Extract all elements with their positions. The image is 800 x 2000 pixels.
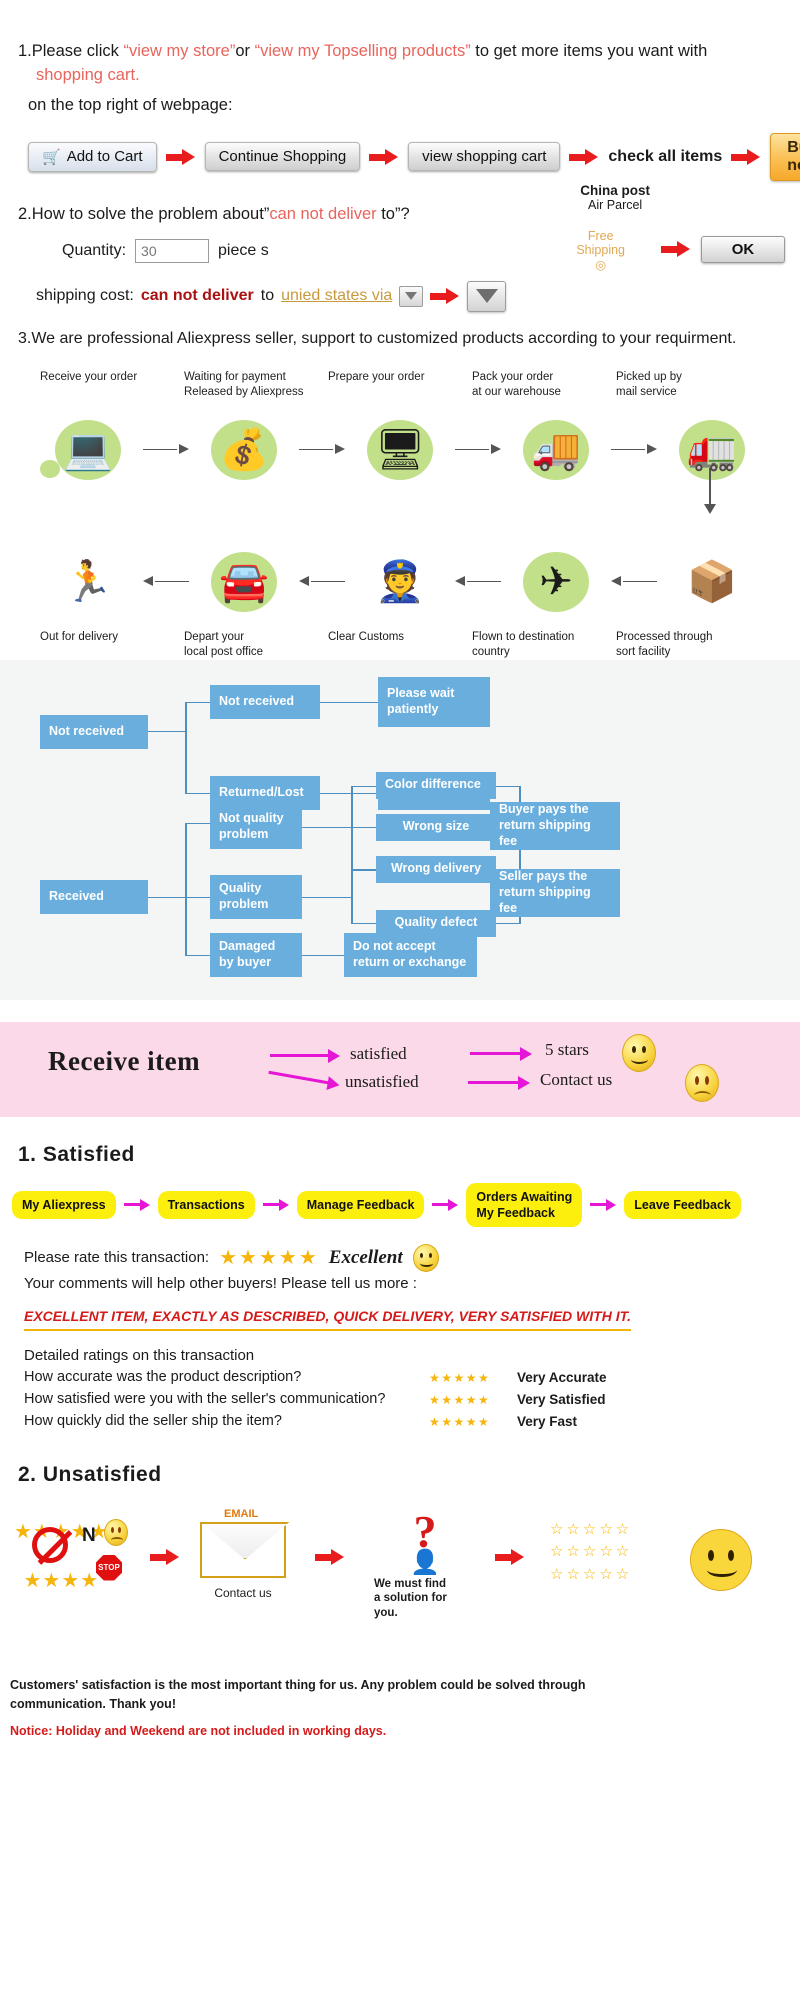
process-label-depart-post-office: Depart your local post office [184, 630, 328, 660]
satisfied-heading: 1. Satisfied [18, 1143, 800, 1167]
arrow-left-icon [299, 576, 345, 588]
arrow-right-icon [267, 1066, 340, 1092]
rate-transaction-row: Please rate this transaction: ★★★★★ Exce… [24, 1243, 800, 1273]
star-row: ☆☆☆☆☆ [550, 1519, 632, 1542]
shipping-cost-label: shipping cost: [36, 287, 134, 305]
happy-face-icon [413, 1244, 439, 1272]
process-label-picked-up: Picked up by mail service [616, 370, 760, 400]
chevron-down-icon [405, 292, 417, 300]
connector-line [351, 870, 353, 924]
airplane-icon: ✈ [539, 562, 573, 602]
prohibition-icon [32, 1527, 68, 1563]
star-rating-grid: ☆☆☆☆☆ ☆☆☆☆☆ ☆☆☆☆☆ [550, 1519, 632, 1587]
connector-line [351, 827, 376, 829]
buy-now-label: Buy now [787, 139, 800, 175]
process-label-out-for-delivery: Out for delivery [40, 630, 184, 660]
checkout-step-buttons: 🛒 Add to Cart Continue Shopping view sho… [28, 133, 782, 181]
section-one-text-a: Please click [32, 42, 124, 60]
flow-please-wait: Please wait patiently [378, 677, 490, 727]
arrow-left-icon [143, 576, 189, 588]
receive-item-banner: Receive item satisfied unsatisfied 5 sta… [0, 1022, 800, 1117]
connector-line [320, 702, 378, 704]
banner-unsatisfied-label: unsatisfied [345, 1072, 419, 1092]
star-row: ☆☆☆☆☆ [550, 1541, 632, 1564]
unsatisfied-heading: 2. Unsatisfied [18, 1463, 800, 1487]
step-orders-awaiting-feedback[interactable]: Orders Awaiting My Feedback [466, 1183, 582, 1228]
free-shipping-label: Free Shipping ◎ [576, 229, 625, 272]
free-shipping-radio-icon[interactable]: ◎ [576, 258, 625, 272]
shopping-cart-icon: 🛒 [42, 148, 61, 166]
process-label-prepare-order: Prepare your order [328, 370, 472, 400]
process-bottom-row: 🏃 🚘 👮 ✈ 📦 [0, 540, 800, 624]
step-my-aliexpress[interactable]: My Aliexpress [12, 1191, 116, 1219]
arrow-right-icon [569, 149, 599, 165]
section-three-text: We are professional Aliexpress seller, s… [31, 330, 736, 347]
footer-line-1: Customers' satisfaction is the most impo… [10, 1676, 800, 1695]
detail-rating-row: How quickly did the seller ship the item… [24, 1411, 800, 1433]
shipping-method-dropdown[interactable] [467, 281, 506, 312]
arrow-right-icon [661, 241, 691, 257]
destination-country-link[interactable]: unied states via [281, 287, 392, 305]
flow-not-quality-problem: Not quality problem [210, 805, 302, 849]
contact-us-caption: Contact us [200, 1586, 286, 1600]
flow-wrong-delivery: Wrong delivery [376, 856, 496, 883]
solution-group: ? 👤 We must find a solution for you. [370, 1505, 480, 1622]
process-top-labels: Receive your order Waiting for payment R… [0, 370, 800, 400]
happy-face-icon [622, 1034, 656, 1072]
ok-confirm-group: OK [661, 236, 785, 263]
detail-rating-row: How accurate was the product description… [24, 1367, 800, 1389]
detail-question: How quickly did the seller ship the item… [24, 1411, 419, 1433]
truck-icon: 🚛 [687, 430, 737, 470]
arrow-right-icon [315, 1549, 345, 1565]
connector-line [185, 823, 210, 825]
feedback-step-bar: My Aliexpress Transactions Manage Feedba… [12, 1183, 800, 1228]
rating-word: Excellent [329, 1244, 403, 1273]
detail-stars: ★★★★★ [429, 1413, 507, 1431]
detail-result: Very Accurate [517, 1368, 607, 1388]
flow-not-received-root: Not received [40, 715, 148, 749]
free-shipping-text: Free Shipping [576, 229, 625, 257]
step-leave-feedback[interactable]: Leave Feedback [624, 1191, 741, 1219]
section-three-number: 3. [18, 330, 31, 347]
customs-officer-icon: 👮 [375, 562, 425, 602]
add-to-cart-label: Add to Cart [67, 148, 143, 165]
section-two-text-a: How to solve the problem about” [32, 205, 270, 223]
banner-satisfied-label: satisfied [350, 1044, 407, 1064]
flow-buyer-pays: Buyer pays the return shipping fee [490, 802, 620, 850]
process-node-prepare-order: 🖥 [354, 408, 446, 492]
flow-no-return-exchange: Do not accept return or exchange [344, 933, 477, 977]
banner-contact-us-label: Contact us [540, 1070, 612, 1090]
parcels-sorting-icon: 📦 [687, 562, 737, 602]
detail-result: Very Satisfied [517, 1390, 606, 1410]
check-all-items-label: check all items [608, 148, 722, 166]
arrow-left-icon [455, 576, 501, 588]
process-node-flown-destination: ✈ [510, 540, 602, 624]
quantity-input[interactable] [135, 239, 209, 263]
arrow-left-icon [611, 576, 657, 588]
buy-now-button[interactable]: Buy now [770, 133, 800, 181]
arrow-right-icon [495, 1549, 525, 1565]
connector-line [185, 955, 210, 957]
shipping-process-diagram: Receive your order Waiting for payment R… [0, 370, 800, 660]
section-one-heading: 1.Please click “view my store”or “view m… [18, 40, 782, 88]
arrow-right-icon [731, 149, 761, 165]
arrow-right-icon [455, 444, 501, 456]
section-two-heading: 2.How to solve the problem about”can not… [18, 203, 782, 227]
buyer-comment-text: EXCELLENT ITEM, EXACTLY AS DESCRIBED, QU… [24, 1306, 631, 1331]
contact-us-group: EMAIL Contact us [200, 1522, 286, 1600]
shipping-cannot-deliver: can not deliver [141, 287, 254, 305]
rating-stars[interactable]: ★★★★★ [219, 1243, 319, 1273]
connector-line [302, 827, 352, 829]
detail-question: How satisfied were you with the seller's… [24, 1389, 419, 1411]
green-blob-decoration [40, 460, 60, 478]
section-two-number: 2. [18, 205, 32, 223]
arrow-right-icon [432, 1199, 458, 1211]
process-node-receive-order: 💻 [42, 408, 134, 492]
view-topselling-link[interactable]: “view my Topselling products” [255, 42, 471, 60]
footer-notice: Notice: Holiday and Weekend are not incl… [10, 1722, 800, 1741]
sad-face-icon [685, 1064, 719, 1102]
unsatisfied-diagram: ★★★★★ ★★★★ N STOP EMAIL Contact us ? 👤 W… [0, 1497, 800, 1672]
no-label: N [82, 1525, 96, 1547]
connector-line [496, 923, 520, 925]
flow-seller-pays: Seller pays the return shipping fee [490, 869, 620, 917]
air-parcel-label: Air Parcel [580, 198, 650, 212]
connector-line [351, 923, 376, 925]
connector-line [148, 731, 186, 733]
arrow-right-icon [143, 444, 189, 456]
view-my-store-link[interactable]: “view my store” [123, 42, 235, 60]
section-one-number: 1. [18, 42, 32, 60]
shopping-cart-text: shopping cart. [36, 64, 782, 88]
rating-block: Please rate this transaction: ★★★★★ Exce… [24, 1243, 800, 1432]
flow-quality-problem: Quality problem [210, 875, 302, 919]
add-to-cart-button[interactable]: 🛒 Add to Cart [28, 142, 157, 172]
money-bag-icon: 💰 [219, 430, 269, 470]
connector-line [302, 955, 344, 957]
flow-wrong-size: Wrong size [376, 814, 496, 841]
cannot-deliver-highlight: can not deliver [269, 205, 376, 223]
process-top-row: 💻 💰 🖥 🚚 🚛 [0, 408, 800, 492]
neutral-face-icon [690, 1529, 752, 1591]
china-post-block: China post Air Parcel [580, 183, 650, 212]
process-bottom-labels: Out for delivery Depart your local post … [0, 630, 800, 660]
arrow-down-icon [704, 468, 716, 514]
section-two: 2.How to solve the problem about”can not… [0, 181, 800, 312]
detail-question: How accurate was the product description… [24, 1367, 419, 1389]
connector-line [185, 702, 210, 704]
arrow-right-icon [590, 1199, 616, 1211]
stop-label: STOP [98, 1563, 120, 1572]
email-envelope-icon [200, 1522, 286, 1578]
footer-note: Customers' satisfaction is the most impo… [10, 1676, 800, 1742]
connector-line [185, 823, 187, 956]
quantity-label: Quantity: [62, 242, 126, 260]
process-label-sort-facility: Processed through sort facility [616, 630, 760, 660]
shipping-cost-row: shipping cost: can not deliver to unied … [36, 281, 782, 312]
sad-face-icon [104, 1519, 128, 1546]
flow-damaged-by-buyer: Damaged by buyer [210, 933, 302, 977]
person-icon: 👤 [370, 1548, 480, 1577]
view-shopping-cart-label: view shopping cart [422, 148, 546, 165]
ok-button[interactable]: OK [701, 236, 785, 263]
connector-line [185, 702, 187, 794]
email-label: EMAIL [224, 1508, 258, 1520]
star-row: ☆☆☆☆☆ [550, 1564, 632, 1587]
banner-title: Receive item [48, 1046, 200, 1077]
detailed-ratings-heading: Detailed ratings on this transaction [24, 1345, 800, 1368]
section-one: 1.Please click “view my store”or “view m… [0, 0, 800, 181]
connector-line [351, 870, 376, 872]
banner-five-stars-label: 5 stars [545, 1040, 589, 1060]
process-label-flown-destination: Flown to destination country [472, 630, 616, 660]
country-dropdown-button[interactable] [399, 286, 423, 307]
solution-caption: We must find a solution for you. [374, 1577, 480, 1622]
process-label-receive-order: Receive your order [40, 370, 184, 400]
continue-shopping-label: Continue Shopping [219, 148, 347, 165]
shipping-to-label: to [261, 287, 274, 305]
process-node-out-for-delivery: 🏃 [42, 540, 134, 624]
rate-transaction-label: Please rate this transaction: [24, 1247, 209, 1270]
connector-line [320, 793, 378, 795]
process-label-pack-order: Pack your order at our warehouse [472, 370, 616, 400]
arrow-right-icon [263, 1199, 289, 1211]
comments-prompt: Your comments will help other buyers! Pl… [24, 1273, 800, 1296]
arrow-right-icon [430, 288, 460, 304]
process-label-waiting-payment: Waiting for payment Released by Aliexpre… [184, 370, 328, 400]
connector-line [185, 897, 210, 899]
bad-stars-bottom: ★★★★ [14, 1568, 109, 1593]
arrow-right-icon [166, 149, 196, 165]
arrow-right-icon [124, 1199, 150, 1211]
step-manage-feedback[interactable]: Manage Feedback [297, 1191, 425, 1219]
connector-line [148, 897, 186, 899]
connector-line [302, 897, 352, 899]
china-post-label: China post [580, 183, 650, 198]
flow-not-received-child: Not received [210, 685, 320, 719]
connector-line [185, 793, 210, 795]
section-two-text-b: to”? [377, 205, 410, 223]
chevron-down-icon [476, 289, 498, 303]
top-right-note: on the top right of webpage: [28, 96, 782, 115]
arrow-right-icon [611, 444, 657, 456]
section-one-text-c: to get more items you want with [471, 42, 708, 60]
process-node-sort-facility: 📦 [666, 540, 758, 624]
footer-line-2: communication. Thank you! [10, 1695, 800, 1714]
detail-rating-row: How satisfied were you with the seller's… [24, 1389, 800, 1411]
arrow-right-icon [468, 1076, 530, 1090]
connector-line [496, 786, 520, 788]
detail-stars: ★★★★★ [429, 1391, 507, 1409]
return-policy-flowchart: Not received Not received Please wait pa… [0, 660, 800, 1000]
process-label-clear-customs: Clear Customs [328, 630, 472, 660]
piece-label: piece s [218, 242, 269, 260]
arrow-right-icon [299, 444, 345, 456]
view-shopping-cart-button[interactable]: view shopping cart [408, 142, 560, 171]
person-computer-icon: 💻 [63, 430, 113, 470]
process-node-waiting-payment: 💰 [198, 408, 290, 492]
detail-result: Very Fast [517, 1412, 577, 1432]
flow-received-root: Received [40, 880, 148, 914]
worker-package-icon: 🚚 [531, 430, 581, 470]
process-node-depart-post-office: 🚘 [198, 540, 290, 624]
arrow-right-icon [369, 149, 399, 165]
connector-line [351, 786, 376, 788]
arrow-right-icon [470, 1047, 532, 1061]
van-icon: 🚘 [219, 562, 269, 602]
continue-shopping-button[interactable]: Continue Shopping [205, 142, 361, 171]
arrow-right-icon [150, 1549, 180, 1565]
section-three: 3.We are professional Aliexpress seller,… [0, 312, 800, 348]
monitor-box-icon: 🖥 [375, 430, 426, 470]
detail-stars: ★★★★★ [429, 1369, 507, 1387]
running-courier-icon: 🏃 [63, 562, 113, 602]
process-node-pack-order: 🚚 [510, 408, 602, 492]
process-node-clear-customs: 👮 [354, 540, 446, 624]
section-one-text-b: or [235, 42, 254, 60]
arrow-right-icon [270, 1049, 340, 1063]
step-transactions[interactable]: Transactions [158, 1191, 255, 1219]
stop-sign-icon: STOP [96, 1555, 122, 1581]
flow-color-difference: Color difference [376, 772, 496, 799]
